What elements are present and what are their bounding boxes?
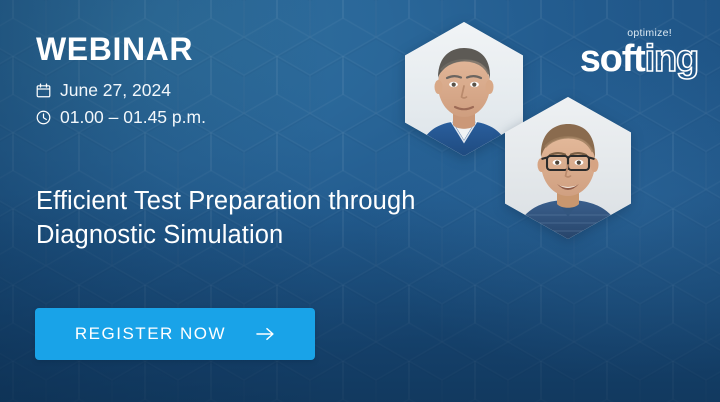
logo-wordmark-outline: ing — [645, 40, 698, 78]
speaker-portrait-2 — [505, 97, 631, 239]
webinar-time: 01.00 – 01.45 p.m. — [60, 107, 206, 129]
register-now-label: REGISTER NOW — [75, 324, 226, 344]
register-now-button[interactable]: REGISTER NOW — [35, 308, 315, 360]
clock-icon — [36, 110, 51, 125]
webinar-banner: WEBINAR June 27, 2024 — [0, 0, 720, 402]
webinar-date: June 27, 2024 — [60, 80, 171, 102]
arrow-right-icon — [256, 326, 275, 342]
logo-tagline: optimize! — [538, 28, 672, 39]
logo-wordmark-solid: soft — [580, 40, 645, 78]
meta-row-time: 01.00 – 01.45 p.m. — [36, 107, 206, 129]
webinar-headline: Efficient Test Preparation through Diagn… — [36, 184, 466, 252]
logo-wordmark: soft ing — [538, 40, 698, 78]
speaker-photo-2 — [505, 97, 631, 239]
meta-row-date: June 27, 2024 — [36, 80, 206, 102]
softing-logo: optimize! soft ing — [538, 28, 698, 78]
webinar-meta: June 27, 2024 01.00 – 01.45 p.m. — [36, 80, 206, 129]
calendar-icon — [36, 83, 51, 98]
page-title: WEBINAR — [36, 33, 193, 65]
